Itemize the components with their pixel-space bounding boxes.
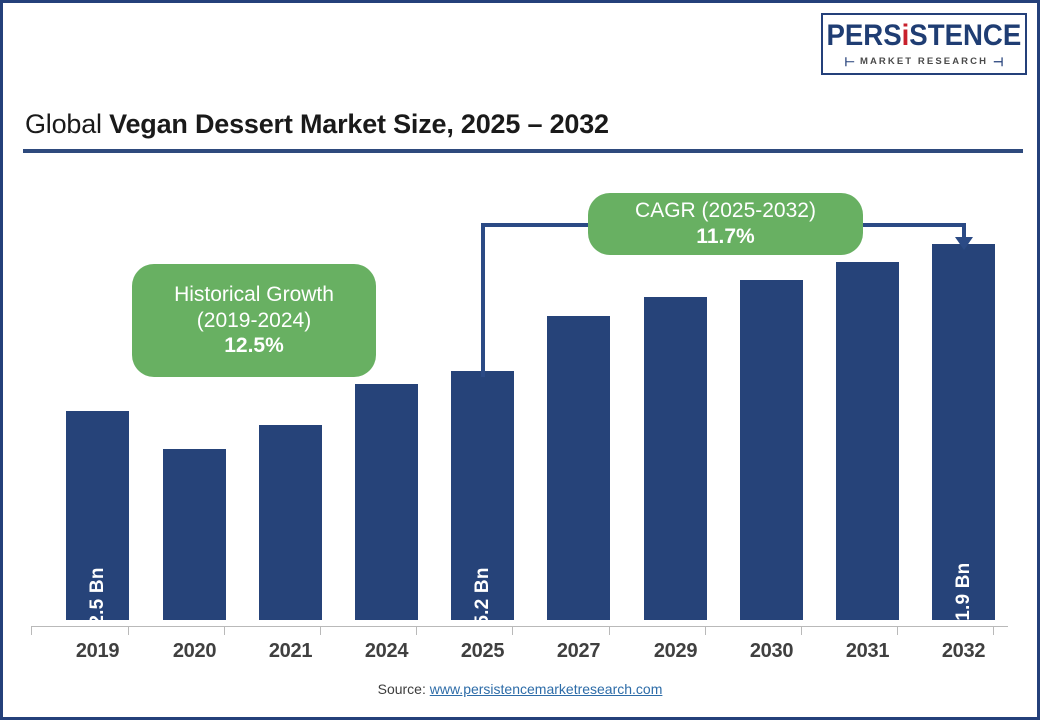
x-axis-label-2031: 2031 <box>828 640 908 663</box>
callout-cagr-value: 11.7% <box>696 224 754 250</box>
title-part-suffix: Market Size, 2025 – 2032 <box>293 109 609 139</box>
bracket-right-icon: ⊣ <box>993 56 1003 68</box>
bar-2032: US$ 11.9 Bn <box>932 244 995 620</box>
bar-2025: US$ 5.2 Bn <box>451 371 514 620</box>
bar-2027 <box>547 316 610 620</box>
x-axis-label-2020: 2020 <box>155 640 235 663</box>
x-tick-2021 <box>224 626 225 635</box>
x-axis-label-2027: 2027 <box>539 640 619 663</box>
x-axis-label-2029: 2029 <box>636 640 716 663</box>
x-axis-label-2024: 2024 <box>347 640 427 663</box>
bar-2031 <box>836 262 899 620</box>
connector-vertical-left <box>481 223 485 377</box>
bar-2020 <box>163 449 226 620</box>
callout-historical-line1: Historical Growth <box>174 282 334 308</box>
x-tick-2019 <box>31 626 32 635</box>
x-tick-2030 <box>705 626 706 635</box>
callout-cagr: CAGR (2025-2032) 11.7% <box>588 193 863 255</box>
x-axis-label-2019: 2019 <box>58 640 138 663</box>
x-axis-label-2032: 2032 <box>924 640 1004 663</box>
x-tick-2029 <box>609 626 610 635</box>
source-footer: Source: www.persistencemarketresearch.co… <box>3 681 1037 697</box>
logo-wordmark: PERSiSTENCE <box>827 21 1022 51</box>
source-prefix: Source: <box>378 681 430 697</box>
logo-word-before: PERS <box>827 19 902 52</box>
x-tick-2027 <box>512 626 513 635</box>
page-title: Global Vegan Dessert Market Size, 2025 –… <box>25 109 609 140</box>
bar-2029 <box>644 297 707 620</box>
connector-horizontal-left <box>481 223 593 227</box>
title-part-global: Global <box>25 109 109 139</box>
source-link[interactable]: www.persistencemarketresearch.com <box>430 681 663 697</box>
x-tick-2032 <box>897 626 898 635</box>
connector-horizontal-right <box>859 223 966 227</box>
x-tick-end <box>993 626 994 635</box>
chart-page: PERSiSTENCE ⊢ MARKET RESEARCH ⊣ Global V… <box>0 0 1040 720</box>
connector-arrow-icon <box>955 237 973 250</box>
bracket-left-icon: ⊢ <box>845 56 855 68</box>
title-underline-rule <box>23 149 1023 153</box>
bar-2030 <box>740 280 803 620</box>
x-tick-2031 <box>801 626 802 635</box>
logo-subtitle-row: ⊢ MARKET RESEARCH ⊣ <box>845 56 1004 68</box>
title-part-subject: Vegan Dessert <box>109 109 293 139</box>
x-tick-2025 <box>416 626 417 635</box>
logo-word-after: STENCE <box>909 19 1021 52</box>
x-axis-label-2021: 2021 <box>251 640 331 663</box>
x-axis-label-2030: 2030 <box>732 640 812 663</box>
callout-historical-growth: Historical Growth (2019-2024) 12.5% <box>132 264 376 377</box>
bar-2024 <box>355 384 418 620</box>
x-axis-label-2025: 2025 <box>443 640 523 663</box>
callout-historical-line2: (2019-2024) <box>197 308 311 334</box>
callout-cagr-line1: CAGR (2025-2032) <box>635 198 816 224</box>
x-axis-line <box>31 626 1008 627</box>
logo-subtitle: MARKET RESEARCH <box>860 56 988 67</box>
connector-vertical-right <box>962 223 966 237</box>
persistence-market-research-logo: PERSiSTENCE ⊢ MARKET RESEARCH ⊣ <box>821 13 1027 75</box>
callout-historical-value: 12.5% <box>224 333 284 359</box>
x-tick-2024 <box>320 626 321 635</box>
bar-2019: US$ 2.5 Bn <box>66 411 129 620</box>
x-tick-2020 <box>128 626 129 635</box>
bar-2021 <box>259 425 322 620</box>
